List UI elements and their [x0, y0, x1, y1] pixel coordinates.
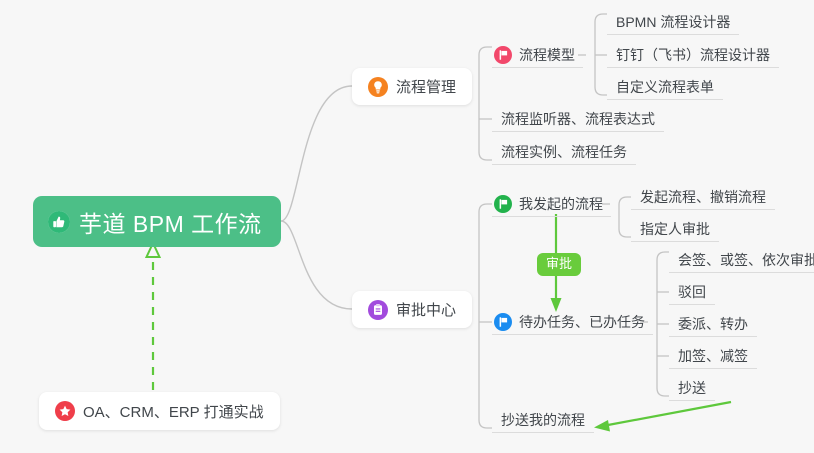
leaf-node-cc[interactable]: 抄送 — [669, 375, 715, 401]
connector-root-to-approval-center — [281, 221, 352, 309]
leaf-label: 自定义流程表单 — [616, 77, 714, 97]
root-label: 芋道 BPM 工作流 — [79, 205, 262, 239]
branch-node-my-initiated[interactable]: 我发起的流程 — [492, 191, 611, 217]
callout-card-integration[interactable]: OA、CRM、ERP 打通实战 — [39, 392, 280, 430]
arrow-cc-to-ccmy-head — [594, 420, 610, 432]
branch-node-label: 待办任务、已办任务 — [519, 312, 645, 332]
flag-icon — [494, 195, 512, 213]
leaf-label: 抄送 — [678, 378, 706, 398]
flag-icon — [494, 46, 512, 64]
clipboard-icon — [368, 300, 388, 320]
branch-node-todo-done-tasks[interactable]: 待办任务、已办任务 — [492, 309, 653, 335]
connector-leaf-start-cancel — [619, 197, 631, 205]
leaf-label: BPMN 流程设计器 — [616, 12, 730, 32]
root-node[interactable]: 芋道 BPM 工作流 — [33, 196, 281, 247]
leaf-node-add-remove-sign[interactable]: 加签、减签 — [669, 343, 757, 369]
branch-card-approval-center[interactable]: 审批中心 — [352, 291, 472, 328]
leaf-node-cc-my-process[interactable]: 抄送我的流程 — [492, 407, 594, 433]
leaf-label: 驳回 — [678, 282, 706, 302]
flag-icon — [494, 313, 512, 331]
connector-leaf-cc — [657, 388, 669, 396]
connector-leaf-countersign — [657, 252, 669, 260]
approval-flow-tag: 审批 — [537, 253, 581, 276]
leaf-label: 钉钉（飞书）流程设计器 — [616, 45, 770, 65]
lightbulb-icon — [368, 77, 388, 97]
connector-root-to-process-management — [281, 86, 352, 221]
leaf-node-reject[interactable]: 驳回 — [669, 279, 715, 305]
leaf-node-instance-task[interactable]: 流程实例、流程任务 — [492, 139, 636, 165]
connector-branch-cc-my-process — [479, 420, 492, 428]
branch-card-process-management[interactable]: 流程管理 — [352, 68, 472, 105]
leaf-label: 抄送我的流程 — [501, 410, 585, 430]
star-icon — [55, 401, 75, 421]
leaf-node-listener-expression[interactable]: 流程监听器、流程表达式 — [492, 106, 664, 132]
leaf-node-dingtalk-designer[interactable]: 钉钉（飞书）流程设计器 — [607, 42, 779, 68]
branch-card-label: 审批中心 — [396, 299, 456, 320]
leaf-node-delegate-transfer[interactable]: 委派、转办 — [669, 311, 757, 337]
leaf-label: 加签、减签 — [678, 346, 748, 366]
connector-leaf-bpmn — [595, 14, 607, 22]
leaf-node-bpmn-designer[interactable]: BPMN 流程设计器 — [607, 9, 739, 35]
leaf-label: 会签、或签、依次审批 — [678, 250, 814, 270]
leaf-node-start-cancel-process[interactable]: 发起流程、撤销流程 — [631, 184, 775, 210]
leaf-label: 发起流程、撤销流程 — [640, 187, 766, 207]
leaf-node-assignee-approval[interactable]: 指定人审批 — [631, 216, 719, 242]
leaf-label: 指定人审批 — [640, 219, 710, 239]
branch-node-process-model[interactable]: 流程模型 — [492, 42, 583, 68]
thumbs-up-icon — [48, 211, 70, 233]
connector-leaf-assignee-approve — [619, 229, 631, 237]
connector-branch-my-initiated — [479, 204, 492, 212]
branch-node-label: 我发起的流程 — [519, 194, 603, 214]
branch-card-label: 流程管理 — [396, 76, 456, 97]
mindmap-canvas: 芋道 BPM 工作流 流程管理 审批中心 — [0, 0, 814, 453]
connector-leaf-customform — [595, 87, 607, 95]
callout-card-label: OA、CRM、ERP 打通实战 — [83, 401, 264, 422]
leaf-node-custom-form[interactable]: 自定义流程表单 — [607, 74, 723, 100]
leaf-label: 委派、转办 — [678, 314, 748, 334]
connector-branch-instance — [479, 152, 492, 160]
leaf-label: 流程监听器、流程表达式 — [501, 109, 655, 129]
leaf-node-countersign[interactable]: 会签、或签、依次审批 — [669, 247, 814, 273]
arrow-cc-to-ccmy — [608, 402, 731, 425]
connector-branch-process-model — [479, 47, 492, 55]
leaf-label: 流程实例、流程任务 — [501, 142, 627, 162]
branch-node-label: 流程模型 — [519, 45, 575, 65]
